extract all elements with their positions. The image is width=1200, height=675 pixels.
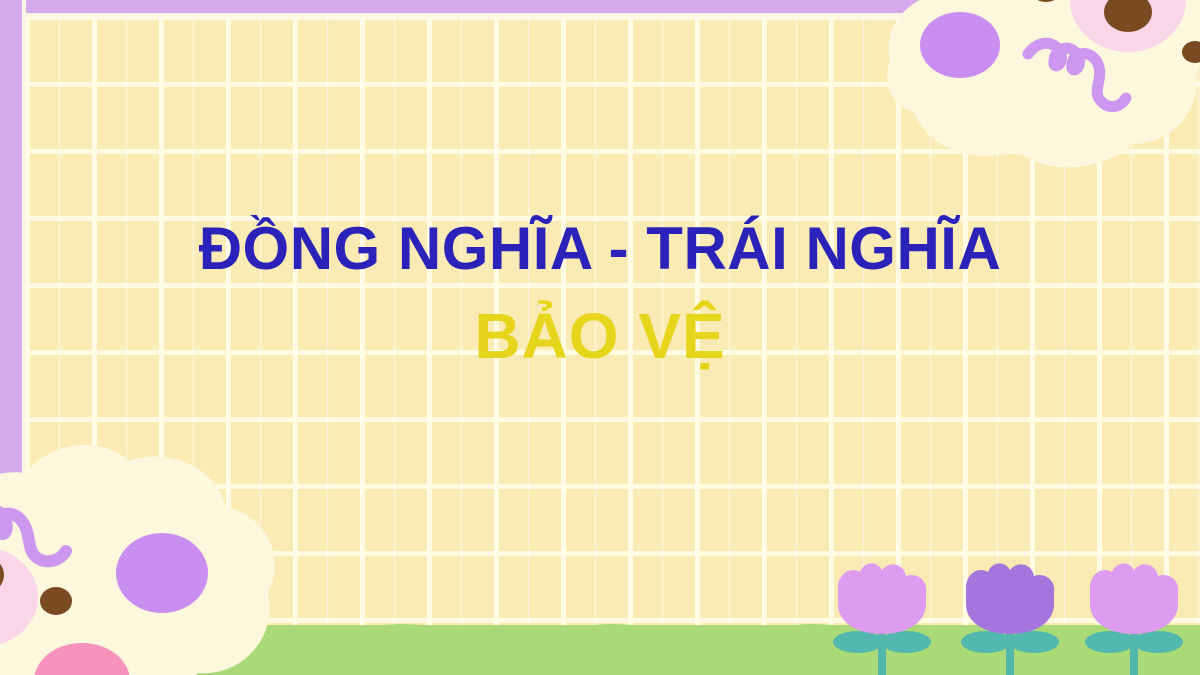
tulip-center <box>961 563 1059 675</box>
slide-title: ĐỒNG NGHĨA - TRÁI NGHĨA <box>0 215 1200 282</box>
cartoon-animal-bottom-left <box>0 415 350 675</box>
tulip-right <box>1085 563 1183 675</box>
cartoon-animal-top-right <box>810 0 1200 220</box>
critter-purple-spot <box>116 533 208 613</box>
slide-subtitle: BẢO VỆ <box>0 300 1200 374</box>
tulip-flower-group <box>830 560 1190 675</box>
tulip-left <box>833 563 931 675</box>
slide-canvas: ĐỒNG NGHĨA - TRÁI NGHĨA BẢO VỆ <box>0 0 1200 675</box>
slide-text-block: ĐỒNG NGHĨA - TRÁI NGHĨA BẢO VỆ <box>0 215 1200 374</box>
critter-brown-dot-small <box>40 587 72 615</box>
critter-purple-spot <box>920 12 1000 78</box>
